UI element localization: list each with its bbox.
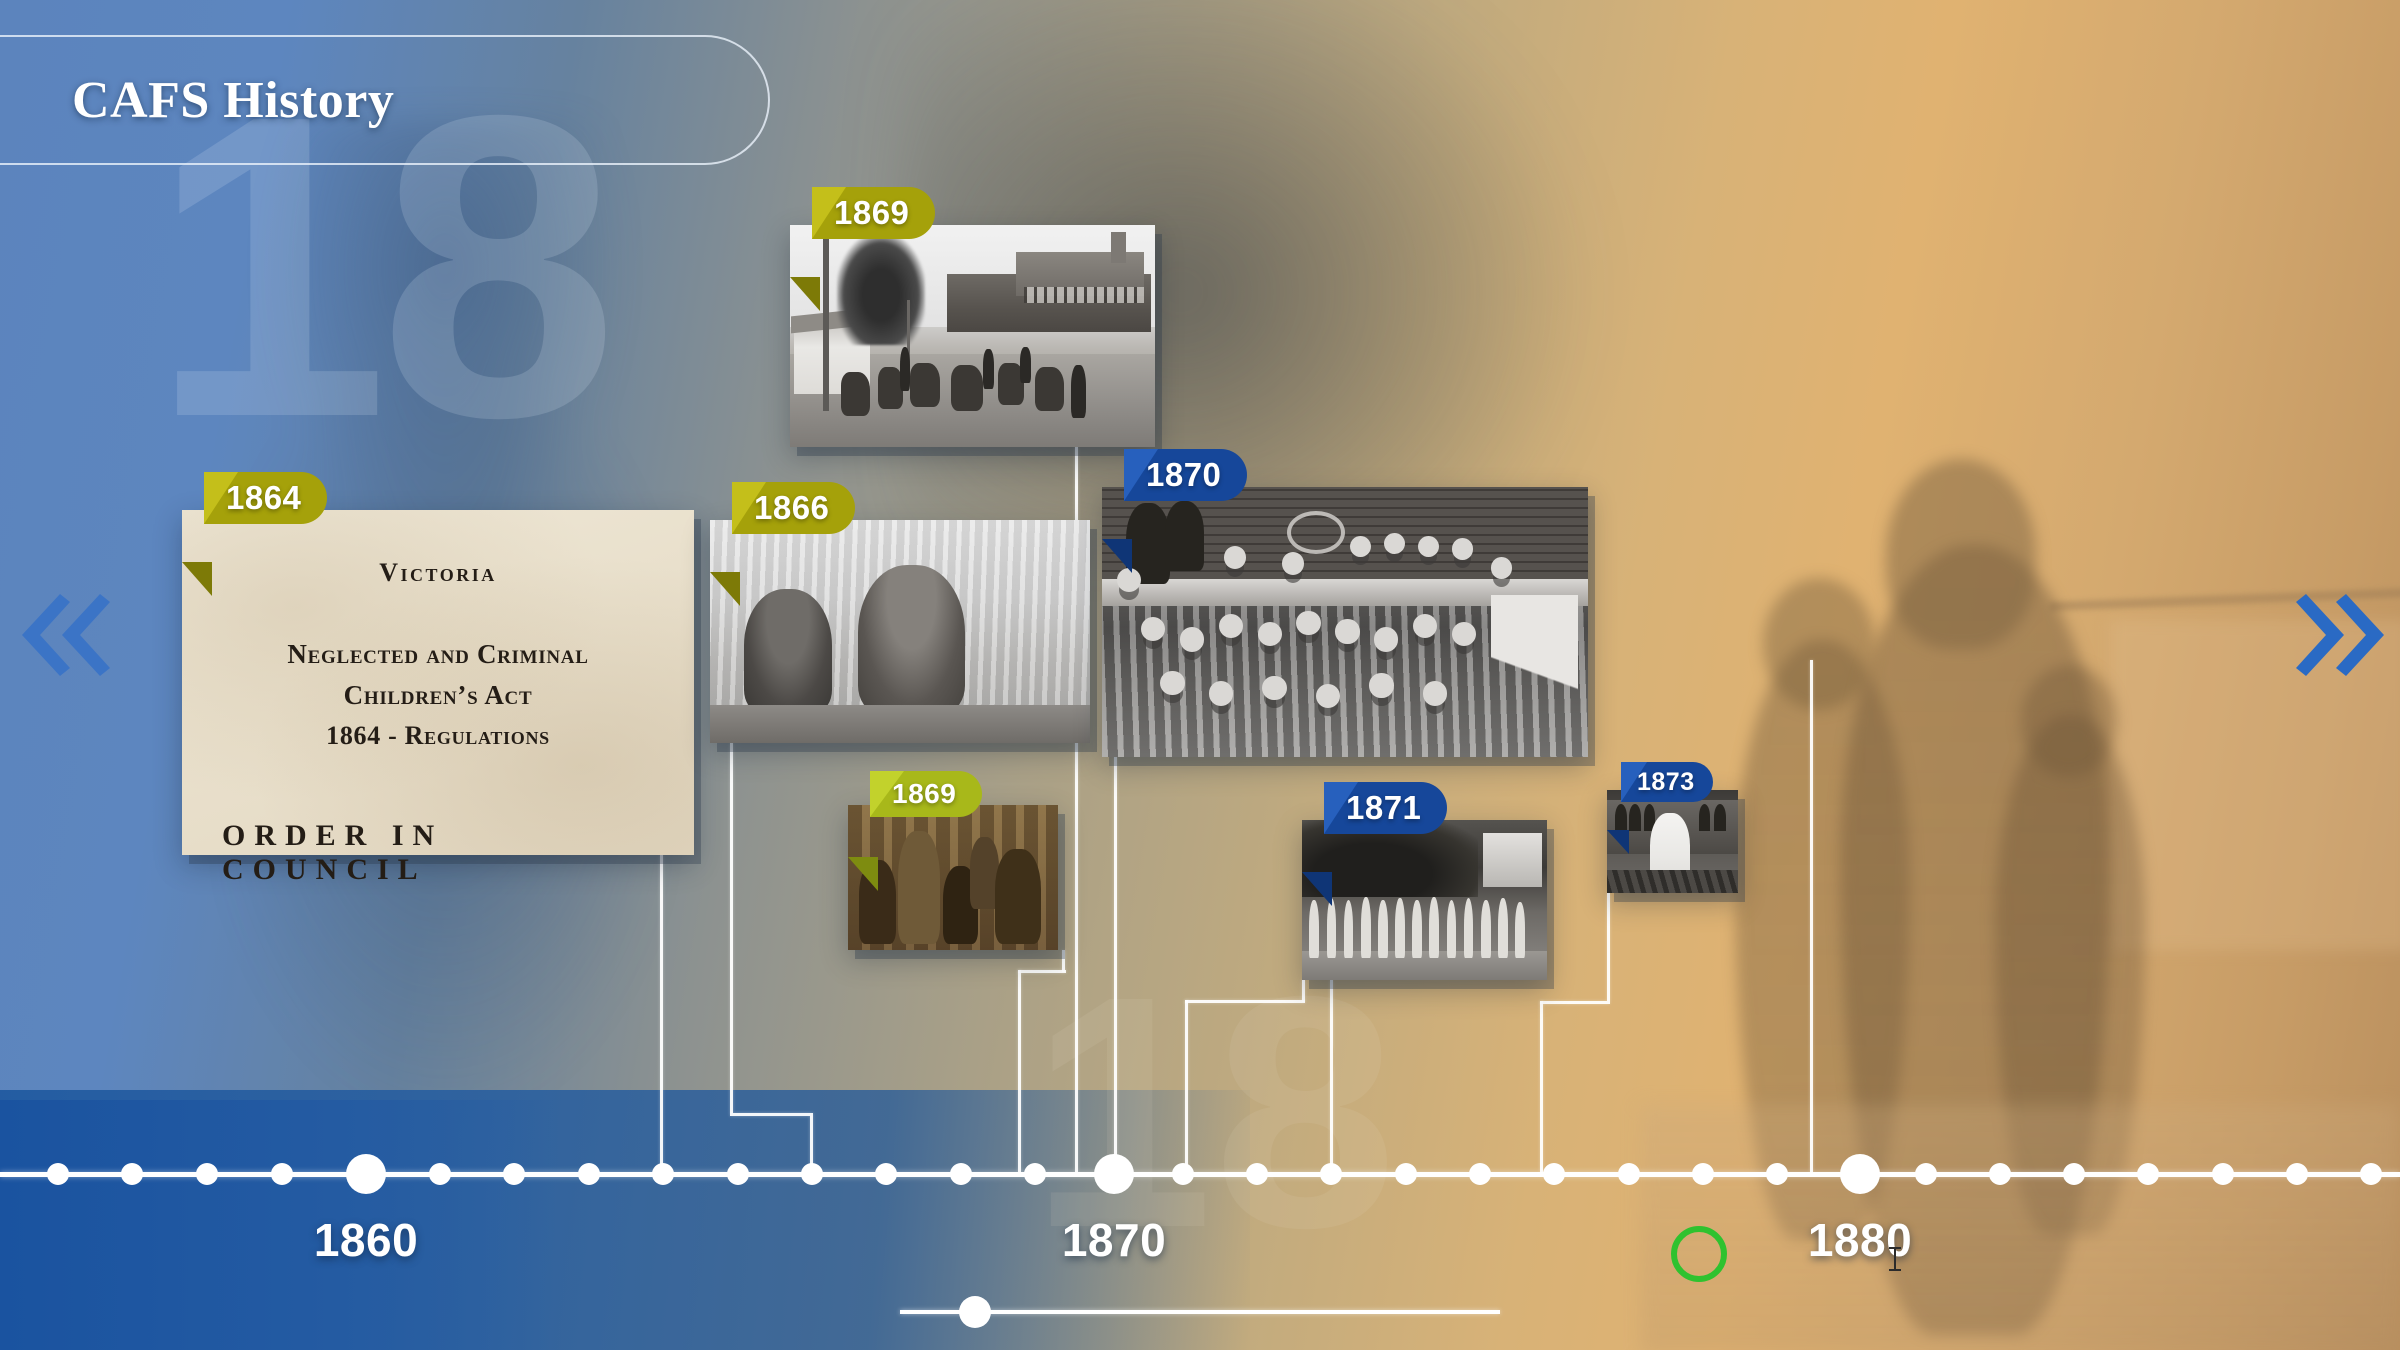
event-year-label: 1866 [754, 489, 829, 527]
event-photo-1870 [1102, 487, 1588, 757]
tag-fold-1869-sepia [848, 857, 878, 891]
tag-fold-1864 [182, 562, 212, 596]
conn-1869sepia-b [1018, 970, 1066, 973]
timeline-tick-27[interactable] [2063, 1163, 2085, 1185]
timeline-tick-17[interactable] [1320, 1163, 1342, 1185]
next-period-button[interactable] [2296, 580, 2392, 690]
event-year-tag-1871: 1871 [1324, 782, 1447, 834]
event-card-1866[interactable]: 1866 [710, 520, 1090, 743]
background-floor [1640, 1105, 2400, 1350]
event-year-tag-1866: 1866 [732, 482, 855, 534]
page-title: CAFS History [72, 71, 394, 130]
timeline-tick-12[interactable] [950, 1163, 972, 1185]
timeline-tick-31[interactable] [2360, 1163, 2382, 1185]
conn-1869sepia-c [1018, 970, 1021, 1172]
conn-1869sepia-a [1062, 950, 1065, 972]
conn-1873-a [1607, 893, 1610, 1001]
decade-label-1880: 1880 [1808, 1213, 1912, 1267]
document-act-title: Neglected and Criminal Children’s Act [222, 634, 654, 715]
timeline-tick-28[interactable] [2137, 1163, 2159, 1185]
timeline-tick-30[interactable] [2286, 1163, 2308, 1185]
tag-fold-1870 [1102, 539, 1132, 573]
event-photo-1869-sepia [848, 805, 1058, 950]
conn-1866-a [730, 743, 733, 1113]
event-year-label: 1864 [226, 479, 301, 517]
timeline-tick-3[interactable] [271, 1163, 293, 1185]
conn-1871-d [1330, 980, 1333, 1172]
timeline-tick-29[interactable] [2212, 1163, 2234, 1185]
conn-1871-c [1185, 1000, 1188, 1172]
conn-1864 [660, 855, 663, 1172]
timeline-tick-16[interactable] [1246, 1163, 1268, 1185]
document-footer: ORDER IN COUNCIL [222, 819, 654, 887]
timeline-tick-19[interactable] [1469, 1163, 1491, 1185]
timeline-tick-14[interactable] [1094, 1154, 1134, 1194]
event-year-tag-1869-street: 1869 [812, 187, 935, 239]
event-card-1864[interactable]: Victoria Neglected and Criminal Children… [182, 510, 694, 855]
timeline-tick-21[interactable] [1618, 1163, 1640, 1185]
event-card-1871[interactable]: 1871 [1302, 820, 1547, 980]
event-card-1869-sepia[interactable]: 1869 [848, 805, 1058, 950]
tag-fold-1871 [1302, 872, 1332, 906]
text-cursor-icon [1894, 1247, 1896, 1271]
conn-1870 [1114, 757, 1117, 1172]
timeline-tick-15[interactable] [1172, 1163, 1194, 1185]
event-card-1873[interactable]: 1873 [1607, 790, 1738, 893]
event-photo-1866 [710, 520, 1090, 743]
conn-1873-c [1540, 1001, 1543, 1172]
timeline-app: 18 18 CAFS History [0, 0, 2400, 1350]
conn-1866-b [730, 1113, 810, 1116]
timeline-tick-2[interactable] [196, 1163, 218, 1185]
timeline-tick-7[interactable] [578, 1163, 600, 1185]
timeline-slider-handle[interactable] [959, 1296, 991, 1328]
timeline-tick-11[interactable] [875, 1163, 897, 1185]
event-year-label: 1871 [1346, 789, 1421, 827]
event-year-label: 1869 [892, 778, 956, 810]
event-year-label: 1869 [834, 194, 909, 232]
tag-fold-1873 [1607, 830, 1629, 854]
timeline-tick-1[interactable] [121, 1163, 143, 1185]
event-year-tag-1869-sepia: 1869 [870, 771, 982, 817]
double-chevron-right-icon [2296, 580, 2392, 690]
tag-fold-1869-street [790, 277, 820, 311]
decade-label-1860: 1860 [314, 1213, 418, 1267]
document-1864: Victoria Neglected and Criminal Children… [182, 510, 694, 855]
timeline-tick-4[interactable] [346, 1154, 386, 1194]
event-card-1870[interactable]: 1870 [1102, 487, 1588, 757]
document-act-subtitle: 1864 - Regulations [326, 721, 550, 751]
timeline-tick-0[interactable] [47, 1163, 69, 1185]
watermark-18-secondary: 18 [1030, 980, 1397, 1244]
event-year-tag-1870: 1870 [1124, 449, 1247, 501]
conn-1871-a [1302, 980, 1305, 1002]
timeline-tick-8[interactable] [652, 1163, 674, 1185]
prev-period-button[interactable] [14, 580, 110, 690]
timeline-tick-20[interactable] [1543, 1163, 1565, 1185]
document-heading: Victoria [379, 558, 496, 588]
timeline-tick-9[interactable] [727, 1163, 749, 1185]
event-year-label: 1873 [1637, 768, 1695, 797]
timeline-tick-22[interactable] [1692, 1163, 1714, 1185]
event-year-tag-1873: 1873 [1621, 762, 1713, 802]
timeline-tick-23[interactable] [1766, 1163, 1788, 1185]
tag-fold-1866 [710, 572, 740, 606]
click-indicator-ring [1671, 1226, 1727, 1282]
decade-label-1870: 1870 [1062, 1213, 1166, 1267]
timeline-tick-24[interactable] [1840, 1154, 1880, 1194]
timeline-tick-10[interactable] [801, 1163, 823, 1185]
timeline-tick-5[interactable] [429, 1163, 451, 1185]
event-year-label: 1870 [1146, 456, 1221, 494]
timeline-tick-18[interactable] [1395, 1163, 1417, 1185]
timeline-tick-25[interactable] [1915, 1163, 1937, 1185]
event-year-tag-1864: 1864 [204, 472, 327, 524]
event-photo-1871 [1302, 820, 1547, 980]
conn-1873-d [1810, 660, 1813, 1172]
event-card-1869-street[interactable]: 1869 [790, 225, 1155, 447]
conn-1871-b [1185, 1000, 1305, 1003]
timeline-tick-26[interactable] [1989, 1163, 2011, 1185]
event-photo-1869-street [790, 225, 1155, 447]
conn-1873-b [1540, 1001, 1610, 1004]
double-chevron-left-icon [14, 580, 110, 690]
timeline-tick-13[interactable] [1024, 1163, 1046, 1185]
background-lower-band-accent [0, 1100, 560, 1350]
page-title-pill: CAFS History [0, 35, 770, 165]
timeline-tick-6[interactable] [503, 1163, 525, 1185]
